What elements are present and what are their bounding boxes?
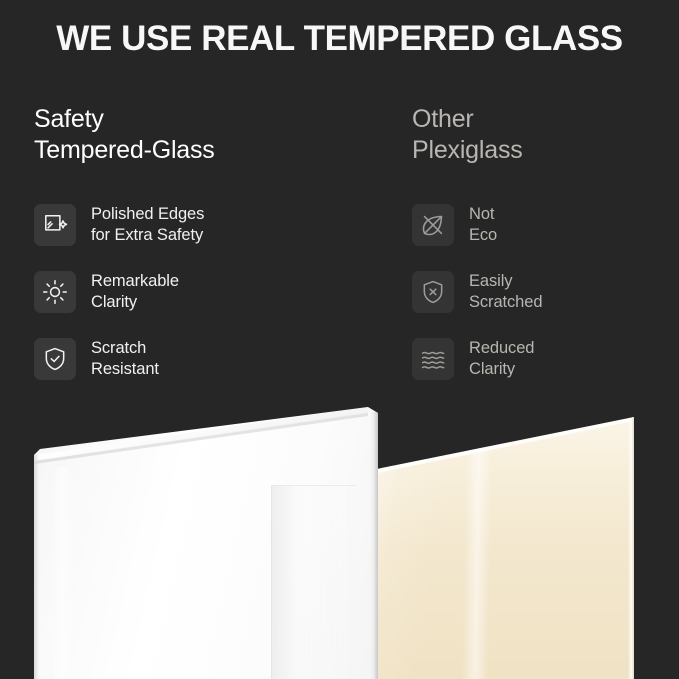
product-photo: [0, 395, 679, 679]
leaf-crossed-out-icon: [412, 204, 454, 246]
feature-item: Remarkable Clarity: [34, 270, 334, 316]
column-heading-left: Safety Tempered-Glass: [34, 104, 334, 166]
feature-label: Easily Scratched: [469, 270, 542, 313]
plexiglass-right-edge: [628, 417, 634, 679]
feature-item: Easily Scratched: [412, 270, 679, 316]
glass-right-edge: [370, 412, 378, 679]
column-heading-right: Other Plexiglass: [412, 104, 679, 166]
sun-clarity-icon: [34, 271, 76, 313]
feature-label: Reduced Clarity: [469, 337, 534, 380]
feature-label: Scratch Resistant: [91, 337, 159, 380]
feature-label: Remarkable Clarity: [91, 270, 179, 313]
feature-item: Reduced Clarity: [412, 337, 679, 383]
page-title: WE USE REAL TEMPERED GLASS: [0, 17, 679, 61]
glass-sheen: [52, 467, 74, 679]
plexiglass-top-edge: [372, 395, 634, 679]
wavy-lines-icon: [412, 338, 454, 380]
glass-left-edge: [34, 455, 39, 679]
feature-item: Scratch Resistant: [34, 337, 334, 383]
tempered-glass-panel: [34, 407, 378, 679]
shield-x-icon: [412, 271, 454, 313]
plexiglass-panel: [372, 395, 634, 679]
feature-label: Polished Edges for Extra Safety: [91, 203, 204, 246]
feature-item: Not Eco: [412, 203, 679, 249]
column-other-plexiglass: Other Plexiglass Not Eco: [412, 104, 679, 166]
feature-list-right: Not Eco Easily Scratched: [412, 203, 679, 383]
feature-label: Not Eco: [469, 203, 497, 246]
polished-edge-sparkle-icon: [34, 204, 76, 246]
shield-check-icon: [34, 338, 76, 380]
feature-item: Polished Edges for Extra Safety: [34, 203, 334, 249]
comparison-infographic: WE USE REAL TEMPERED GLASS Safety Temper…: [0, 0, 679, 679]
glass-reflection: [271, 485, 356, 679]
comparison-columns: Safety Tempered-Glass Polished Edges for…: [0, 104, 679, 404]
plexiglass-sheen: [462, 435, 492, 679]
column-safety-tempered-glass: Safety Tempered-Glass Polished Edges for…: [34, 104, 334, 166]
feature-list-left: Polished Edges for Extra Safety: [34, 203, 334, 383]
